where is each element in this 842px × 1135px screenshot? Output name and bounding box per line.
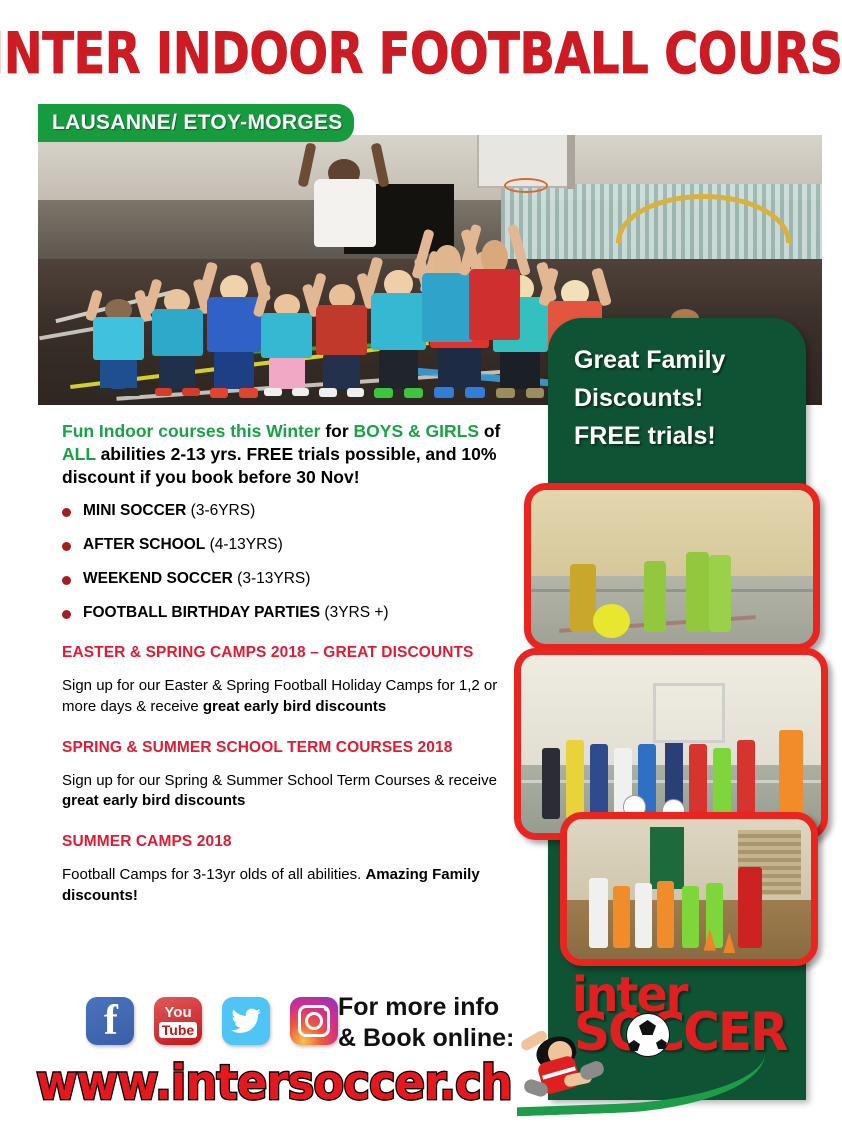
section-body: Sign up for our Spring & Summer School T… — [62, 771, 518, 812]
bullet-dot-icon — [62, 508, 71, 517]
intro-black-3: abilities 2-13 yrs. FREE trials possible… — [62, 444, 496, 487]
main-content: Fun Indoor courses this Winter for BOYS … — [62, 420, 518, 906]
intro-green-3: GIRLS — [426, 421, 479, 441]
course-list: MINI SOCCER (3-6YRS) AFTER SCHOOL (4-13Y… — [62, 502, 518, 622]
player-figure — [657, 881, 674, 948]
child-figure — [93, 292, 144, 389]
section-easter-spring-camps: EASTER & SPRING CAMPS 2018 – GREAT DISCO… — [62, 644, 518, 717]
discount-line-2: Discounts! — [574, 379, 786, 417]
bullet-dot-icon — [62, 610, 71, 619]
section-heading: SUMMER CAMPS 2018 — [62, 833, 518, 851]
section-spring-summer-term: SPRING & SUMMER SCHOOL TERM COURSES 2018… — [62, 739, 518, 812]
side-photo-coaching-session — [560, 812, 818, 966]
player-mascot-icon — [518, 1015, 604, 1097]
intro-green-4: ALL — [62, 444, 96, 464]
intro-black-2: of — [479, 421, 500, 441]
instagram-icon[interactable] — [290, 997, 338, 1045]
cta-more-info: For more info & Book online: — [338, 992, 538, 1053]
section-body-normal: Sign up for our Spring & Summer School T… — [62, 772, 497, 789]
discount-callout: Great Family Discounts! FREE trials! — [548, 325, 800, 455]
player-figure — [709, 555, 732, 632]
section-body: Football Camps for 3-13yr olds of all ab… — [62, 865, 518, 906]
player-figure — [590, 744, 608, 819]
child-figure — [261, 286, 312, 389]
section-body-bold: great early bird discounts — [62, 792, 245, 809]
section-heading: EASTER & SPRING CAMPS 2018 – GREAT DISCO… — [62, 644, 518, 662]
player-figure — [686, 552, 709, 632]
intro-green-1: Fun Indoor courses this Winter — [62, 421, 320, 441]
player-figure — [779, 730, 803, 819]
course-name: AFTER SCHOOL — [83, 536, 205, 553]
coach-figure — [297, 143, 391, 273]
side-photo-match-play — [524, 483, 820, 651]
twitter-icon[interactable] — [222, 997, 270, 1045]
bullet-dot-icon — [62, 576, 71, 585]
child-figure — [469, 227, 520, 389]
player-figure — [689, 744, 707, 819]
section-summer-camps: SUMMER CAMPS 2018 Football Camps for 3-1… — [62, 833, 518, 906]
basketball-hoop-icon — [504, 178, 547, 193]
poster-title-bar: WINTER INDOOR FOOTBALL COURSES — [0, 24, 842, 84]
list-item[interactable]: MINI SOCCER (3-6YRS) — [62, 502, 518, 520]
website-url[interactable]: www.intersoccer.ch — [36, 1054, 512, 1110]
player-figure — [613, 886, 630, 948]
section-heading: SPRING & SUMMER SCHOOL TERM COURSES 2018 — [62, 739, 518, 757]
section-body-bold: great early bird discounts — [203, 698, 386, 715]
player-figure — [566, 740, 584, 818]
coach-figure — [738, 867, 762, 948]
course-ages: (3-6YRS) — [191, 502, 256, 519]
player-figure — [635, 883, 652, 947]
list-item[interactable]: WEEKEND SOCCER (3-13YRS) — [62, 570, 518, 588]
bullet-dot-icon — [62, 542, 71, 551]
course-name: WEEKEND SOCCER — [83, 570, 233, 587]
location-banner: LAUSANNE/ ETOY-MORGES — [38, 104, 354, 142]
player-figure — [713, 748, 731, 819]
social-links-row: f You Tube — [86, 997, 338, 1045]
course-name: MINI SOCCER — [83, 502, 186, 519]
course-ages: (4-13YRS) — [210, 536, 283, 553]
course-ages: (3YRS +) — [324, 604, 388, 621]
intro-black-1: for — [320, 421, 353, 441]
section-body: Sign up for our Easter & Spring Football… — [62, 676, 518, 717]
youtube-icon[interactable]: You Tube — [154, 997, 202, 1045]
location-banner-label: LAUSANNE/ ETOY-MORGES — [52, 111, 343, 135]
course-ages: (3-13YRS) — [237, 570, 310, 587]
football-icon — [593, 604, 630, 638]
list-item[interactable]: FOOTBALL BIRTHDAY PARTIES (3YRS +) — [62, 604, 518, 622]
facebook-icon[interactable]: f — [86, 997, 134, 1045]
child-figure — [316, 275, 367, 388]
discount-line-3: FREE trials! — [574, 417, 786, 455]
section-body-normal: Football Camps for 3-13yr olds of all ab… — [62, 866, 365, 883]
doorway — [650, 827, 684, 889]
player-figure — [737, 740, 755, 818]
player-figure — [570, 564, 595, 632]
player-figure — [644, 561, 667, 632]
player-figure — [589, 878, 609, 948]
goal-frame — [653, 683, 725, 742]
player-figure — [542, 748, 560, 819]
intersoccer-logo: inter SOCCER — [560, 965, 810, 1100]
child-figure — [152, 281, 203, 389]
player-figure — [682, 886, 699, 948]
youtube-label-top: You — [164, 1005, 191, 1020]
child-figure — [207, 265, 262, 389]
discount-line-1: Great Family — [574, 341, 786, 379]
intro-paragraph: Fun Indoor courses this Winter for BOYS … — [62, 420, 518, 488]
course-name: FOOTBALL BIRTHDAY PARTIES — [83, 604, 320, 621]
page-title: WINTER INDOOR FOOTBALL COURSES — [0, 21, 842, 87]
cta-line-1: For more info — [338, 992, 538, 1023]
hoop-pole — [567, 135, 575, 189]
soccer-ball-icon — [626, 1013, 670, 1057]
intro-green-2: BOYS & — [354, 421, 421, 441]
list-item[interactable]: AFTER SCHOOL (4-13YRS) — [62, 536, 518, 554]
youtube-label-bottom: Tube — [159, 1022, 197, 1038]
cta-line-2: & Book online: — [338, 1023, 538, 1054]
